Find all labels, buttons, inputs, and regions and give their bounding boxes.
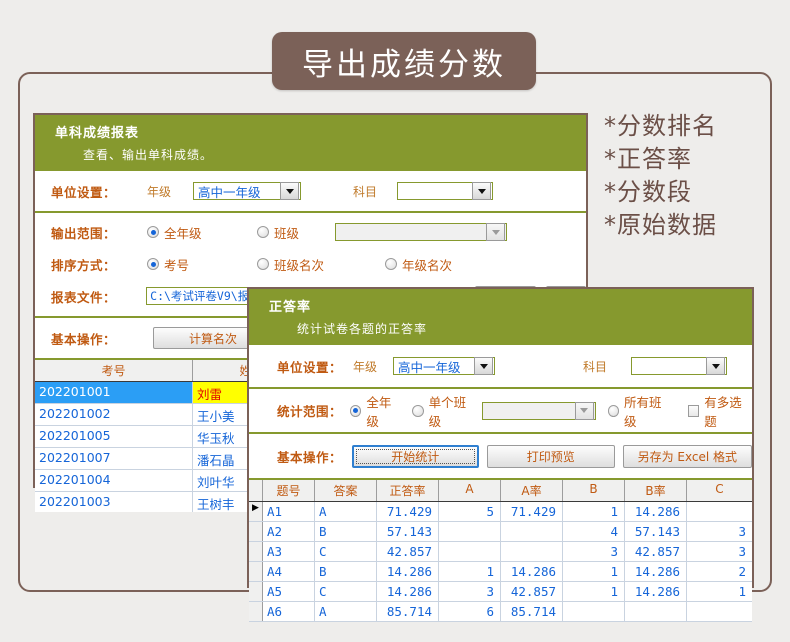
student-exam-no: 202201002 [35,404,193,425]
column-header-exam-no: 考号 [35,360,193,381]
cell-q-no: A4 [263,562,315,581]
feature-bullet-list: *分数排名 *正答率 *分数段 *原始数据 [604,110,769,242]
column-header-a-rate: A率 [501,480,563,501]
radio-sort-grade-rank-label: 年级名次 [402,255,452,274]
radio-stat-single-class[interactable]: 单个班级 [412,392,476,430]
print-preview-button[interactable]: 打印预览 [487,445,615,468]
cell-c-count: 3 [687,522,752,541]
row-marker-icon [249,602,263,621]
cell-b-count: 4 [563,522,625,541]
checkbox-multi-choice[interactable]: 有多选题 [688,392,752,430]
radio-sort-exam-no-label: 考号 [164,255,189,274]
correct-rate-grid-body: ▶A1A71.429571.429114.286A2B57.143457.143… [249,502,752,622]
panel2-unit-label: 单位设置： [277,357,353,376]
cell-answer: A [315,602,377,621]
panel1-subject-select[interactable] [397,182,493,200]
correct-rate-row[interactable]: A4B14.286114.286114.2862 [249,562,752,582]
panel2-title: 正答率 [269,300,311,315]
cell-b-count: 1 [563,562,625,581]
chevron-down-icon[interactable] [280,182,299,200]
radio-icon[interactable] [608,405,620,417]
row-marker-icon: ▶ [249,502,263,521]
chevron-down-icon[interactable] [706,357,725,375]
row-marker-icon [249,542,263,561]
panel1-output-range-row: 输出范围： 全年级 班级 [35,213,586,250]
panel1-report-file-label: 报表文件： [51,287,132,306]
bullet-item-2: *分数段 [604,176,769,209]
checkbox-icon[interactable] [688,405,700,417]
radio-icon[interactable] [147,226,159,238]
cell-a-rate [501,542,563,561]
checkbox-multi-choice-label: 有多选题 [704,392,752,430]
correct-rate-row[interactable]: ▶A1A71.429571.429114.286 [249,502,752,522]
cell-a-rate: 42.857 [501,582,563,601]
cell-answer: B [315,522,377,541]
row-marker-icon [249,562,263,581]
correct-rate-grid-header: 题号 答案 正答率 A A率 B B率 C [249,480,752,502]
panel1-grade-label: 年级 [147,183,193,200]
row-marker-icon [249,582,263,601]
start-statistics-button-label: 开始统计 [356,449,476,464]
save-as-excel-button[interactable]: 另存为 Excel 格式 [623,445,752,468]
cell-q-no: A6 [263,602,315,621]
column-header-q-no: 题号 [263,480,315,501]
chevron-down-icon[interactable] [472,182,491,200]
panel2-header: 正答率 统计试卷各题的正答率 [249,289,752,345]
radio-stat-all-grade-label: 全年级 [366,392,402,430]
chevron-down-icon[interactable] [474,357,493,375]
panel2-grade-label: 年级 [353,358,393,375]
panel1-sort-row: 排序方式： 考号 班级名次 年级名次 [35,250,586,281]
cell-b-rate: 57.143 [625,522,687,541]
student-exam-no: 202201001 [35,382,193,403]
cell-b-rate: 14.286 [625,502,687,521]
cell-q-no: A2 [263,522,315,541]
cell-a-count: 1 [439,562,501,581]
panel2-basic-ops-row: 基本操作： 开始统计 打印预览 另存为 Excel 格式 [249,434,752,478]
start-statistics-button[interactable]: 开始统计 [352,445,480,468]
student-exam-no: 202201005 [35,426,193,447]
cell-a-rate [501,522,563,541]
radio-stat-all-classes[interactable]: 所有班级 [608,392,672,430]
cell-answer: B [315,562,377,581]
panel2-subtitle: 统计试卷各题的正答率 [297,320,752,337]
cell-correct-rate: 85.714 [377,602,439,621]
panel2-stat-range-label: 统计范围： [277,401,350,420]
radio-output-all-grade[interactable]: 全年级 [147,223,257,242]
correct-rate-grid[interactable]: 题号 答案 正答率 A A率 B B率 C ▶A1A71.429571.4291… [249,478,752,622]
panel1-basic-ops-label: 基本操作： [51,329,133,348]
radio-icon[interactable] [412,405,424,417]
radio-sort-class-rank-label: 班级名次 [274,255,324,274]
panel2-class-select[interactable] [482,402,595,420]
cell-c-count: 2 [687,562,752,581]
panel2-stat-range-row: 统计范围： 全年级 单个班级 所有班级 有多选题 [249,389,752,432]
cell-correct-rate: 14.286 [377,582,439,601]
page-title: 导出成绩分数 [302,39,506,84]
cell-a-count: 5 [439,502,501,521]
panel2-basic-ops-label: 基本操作： [277,447,352,466]
cell-correct-rate: 57.143 [377,522,439,541]
radio-stat-single-class-label: 单个班级 [429,392,477,430]
bullet-item-0: *分数排名 [604,110,769,143]
cell-c-count: 3 [687,542,752,561]
panel2-grade-select[interactable]: 高中一年级 [393,357,495,375]
cell-b-count [563,602,625,621]
bullet-item-3: *原始数据 [604,209,769,242]
cell-q-no: A5 [263,582,315,601]
student-exam-no: 202201003 [35,492,193,512]
radio-output-class[interactable]: 班级 [257,223,335,242]
cell-q-no: A3 [263,542,315,561]
column-header-marker [249,480,263,501]
student-exam-no: 202201004 [35,470,193,491]
radio-sort-grade-rank[interactable]: 年级名次 [385,255,452,274]
cell-a-rate: 71.429 [501,502,563,521]
panel1-class-select[interactable] [335,223,507,241]
cell-b-count: 3 [563,542,625,561]
correct-rate-row[interactable]: A2B57.143457.1433 [249,522,752,542]
panel2-unit-row: 单位设置： 年级 高中一年级 科目 [249,345,752,387]
radio-sort-exam-no[interactable]: 考号 [147,255,257,274]
panel1-header: 单科成绩报表 查看、输出单科成绩。 [35,115,586,171]
panel1-grade-value: 高中一年级 [194,182,280,201]
radio-icon[interactable] [257,258,269,270]
radio-stat-all-grade[interactable]: 全年级 [350,392,402,430]
cell-b-rate [625,602,687,621]
column-header-a: A [439,480,501,501]
radio-icon[interactable] [385,258,397,270]
chevron-down-icon[interactable] [575,402,594,420]
cell-answer: C [315,542,377,561]
cell-b-rate: 14.286 [625,582,687,601]
panel1-unit-row: 单位设置： 年级 高中一年级 科目 [35,171,586,211]
cell-a-count: 3 [439,582,501,601]
cell-q-no: A1 [263,502,315,521]
cell-a-rate: 85.714 [501,602,563,621]
cell-b-rate: 42.857 [625,542,687,561]
print-preview-button-label: 打印预览 [488,446,614,467]
student-exam-no: 202201007 [35,448,193,469]
panel1-subject-label: 科目 [353,183,377,200]
radio-output-all-grade-label: 全年级 [164,223,202,242]
panel2-subject-label: 科目 [583,358,607,375]
save-as-excel-button-label: 另存为 Excel 格式 [624,446,751,467]
cell-b-rate: 14.286 [625,562,687,581]
cell-a-count: 6 [439,602,501,621]
cell-b-count: 1 [563,582,625,601]
radio-output-class-label: 班级 [274,223,299,242]
cell-correct-rate: 14.286 [377,562,439,581]
radio-icon[interactable] [257,226,269,238]
bullet-item-1: *正答率 [604,143,769,176]
radio-stat-all-classes-label: 所有班级 [624,392,672,430]
page-title-banner: 导出成绩分数 [272,32,536,90]
cell-correct-rate: 71.429 [377,502,439,521]
radio-icon[interactable] [350,405,362,417]
cell-c-count [687,502,752,521]
panel2-subject-select[interactable] [631,357,727,375]
column-header-answer: 答案 [315,480,377,501]
column-header-c: C [687,480,752,501]
column-header-b: B [563,480,625,501]
cell-correct-rate: 42.857 [377,542,439,561]
column-header-correct-rate: 正答率 [377,480,439,501]
radio-sort-class-rank[interactable]: 班级名次 [257,255,385,274]
cell-b-count: 1 [563,502,625,521]
cell-c-count [687,602,752,621]
column-header-b-rate: B率 [625,480,687,501]
panel1-grade-select[interactable]: 高中一年级 [193,182,301,200]
panel1-subtitle: 查看、输出单科成绩。 [83,146,586,163]
cell-a-count [439,522,501,541]
cell-answer: A [315,502,377,521]
panel1-unit-label: 单位设置： [51,182,133,201]
panel1-output-range-label: 输出范围： [51,223,133,242]
panel-correct-rate: 正答率 统计试卷各题的正答率 单位设置： 年级 高中一年级 科目 统计范围： 全… [247,287,754,588]
correct-rate-row[interactable]: A6A85.714685.714 [249,602,752,622]
panel2-grade-value: 高中一年级 [394,357,474,376]
cell-answer: C [315,582,377,601]
chevron-down-icon[interactable] [486,223,505,241]
cell-a-rate: 14.286 [501,562,563,581]
cell-a-count [439,542,501,561]
panel1-title: 单科成绩报表 [55,126,139,141]
panel1-sort-label: 排序方式： [51,255,133,274]
cell-c-count: 1 [687,582,752,601]
radio-icon[interactable] [147,258,159,270]
row-marker-icon [249,522,263,541]
correct-rate-row[interactable]: A3C42.857342.8573 [249,542,752,562]
correct-rate-row[interactable]: A5C14.286342.857114.2861 [249,582,752,602]
